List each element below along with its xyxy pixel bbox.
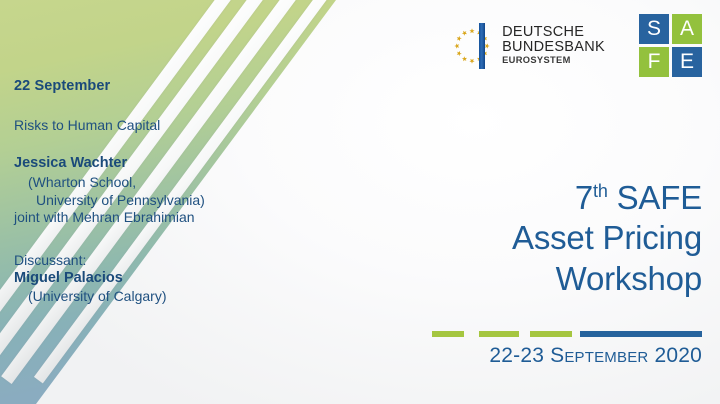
session-date: 22 September: [14, 78, 294, 96]
presentation-slide: 22 September Risks to Human Capital Jess…: [0, 0, 720, 404]
session-title: Risks to Human Capital: [14, 117, 294, 134]
logo-bar: DEUTSCHE BUNDESBANK EUROSYSTEM S A F E: [449, 14, 702, 77]
divider-dash-green: [432, 331, 464, 337]
workshop-edition-suffix: th: [593, 181, 608, 201]
coauthor-note: joint with Mehran Ebrahimian: [14, 209, 294, 226]
workshop-title-line1: 7th SAFE: [402, 178, 702, 218]
divider-dash-green: [479, 331, 519, 337]
speaker-name: Jessica Wachter: [14, 155, 294, 173]
workshop-dates: 22-23 September 2020: [402, 344, 702, 368]
bundesbank-line2: BUNDESBANK: [502, 40, 605, 55]
discussant-label: Discussant:: [14, 252, 294, 269]
workshop-edition-number: 7: [575, 179, 593, 216]
eu-blue-bar: [479, 23, 485, 69]
discussant-affiliation: (University of Calgary): [28, 288, 294, 305]
workshop-title-block: 7th SAFE Asset Pricing Workshop: [402, 178, 702, 299]
workshop-title-line3: Workshop: [402, 259, 702, 299]
title-divider-rule: [432, 331, 702, 337]
bundesbank-line1: DEUTSCHE: [502, 25, 605, 40]
safe-letter-s: S: [639, 14, 669, 44]
session-info-block: 22 September Risks to Human Capital Jess…: [14, 78, 294, 305]
speaker-affiliation-line1: (Wharton School,: [28, 174, 294, 191]
safe-letter-f: F: [639, 47, 669, 77]
safe-logo: S A F E: [639, 14, 702, 77]
divider-bar-blue: [580, 331, 702, 337]
workshop-title-line2: Asset Pricing: [402, 218, 702, 258]
bundesbank-logo: DEUTSCHE BUNDESBANK EUROSYSTEM: [449, 23, 605, 69]
bundesbank-line3: EUROSYSTEM: [502, 56, 605, 66]
safe-letter-e: E: [672, 47, 702, 77]
eu-stars-svg: [449, 23, 495, 69]
eu-stars-icon: [449, 23, 495, 69]
divider-dash-green: [530, 331, 572, 337]
speaker-affiliation-line2: University of Pennsylvania): [36, 192, 294, 209]
bundesbank-wordmark: DEUTSCHE BUNDESBANK EUROSYSTEM: [502, 25, 605, 65]
workshop-title-line1-rest: SAFE: [608, 179, 702, 216]
discussant-name: Miguel Palacios: [14, 270, 294, 288]
safe-letter-a: A: [672, 14, 702, 44]
